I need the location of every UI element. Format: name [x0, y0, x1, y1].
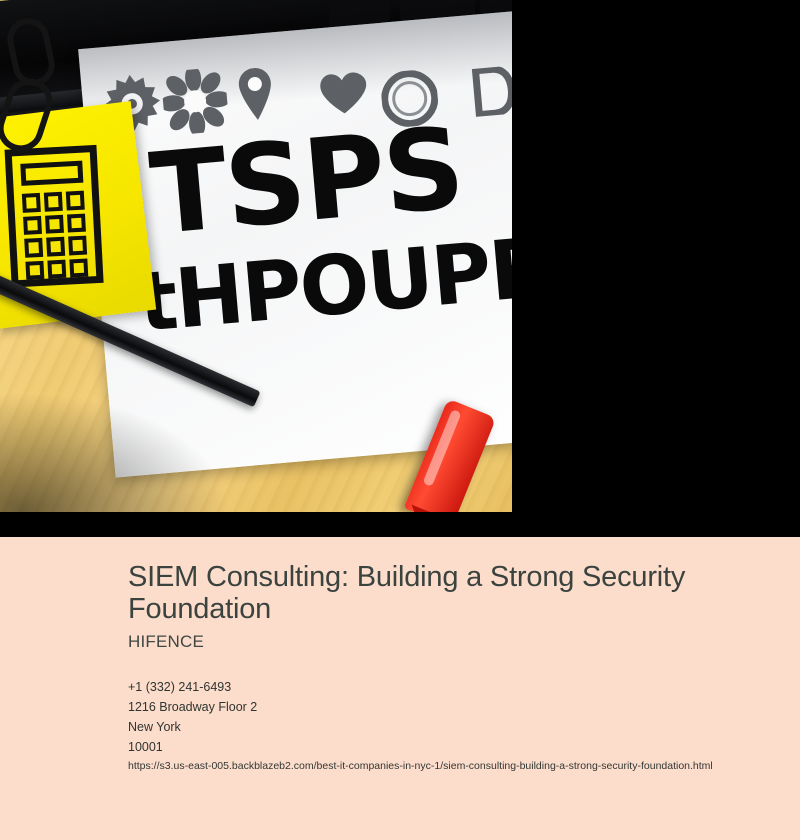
page-title: SIEM Consulting: Building a Strong Secur… [128, 561, 688, 625]
calculator-screen [20, 161, 83, 186]
contact-postal-code: 10001 [128, 737, 728, 757]
brand-name: HIFENCE [128, 632, 204, 652]
hero-photo: TSPS tHPOUPRT [0, 0, 512, 512]
hero-band: TSPS tHPOUPRT [0, 0, 800, 537]
calculator-keys [22, 191, 88, 280]
contact-street: 1216 Broadway Floor 2 [128, 697, 728, 717]
page-root: TSPS tHPOUPRT SIEM Con [0, 0, 800, 840]
contact-block: +1 (332) 241-6493 1216 Broadway Floor 2 … [128, 677, 728, 757]
contact-phone: +1 (332) 241-6493 [128, 677, 728, 697]
calculator-drawing [5, 145, 104, 288]
photo-corner-shadow [0, 392, 230, 512]
source-url: https://s3.us-east-005.backblazeb2.com/b… [128, 759, 713, 773]
marker-tip [403, 505, 448, 512]
map-pin-icon [237, 67, 275, 122]
heart-icon [317, 70, 368, 116]
letter-d-icon [471, 66, 512, 117]
contact-city: New York [128, 717, 728, 737]
content-panel: SIEM Consulting: Building a Strong Secur… [0, 537, 800, 840]
